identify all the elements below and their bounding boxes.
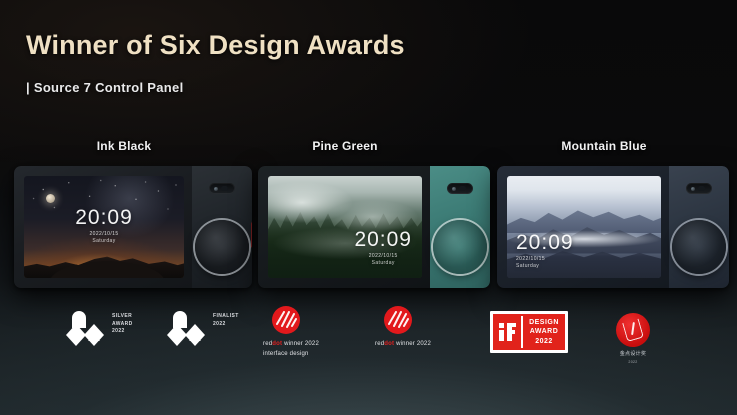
clock-widget: 20:09 2022/10/15 Saturday	[516, 232, 574, 269]
award-line-3: 2022	[112, 328, 133, 336]
camera-sensor-icon	[447, 183, 473, 194]
golden-pin-caption: 金点设计奖 2022	[607, 351, 659, 365]
idea-award-icon	[163, 305, 209, 351]
clock-time: 20:09	[75, 207, 133, 228]
if-logo-icon	[495, 316, 523, 348]
golden-pin-name: 金点设计奖	[620, 351, 647, 357]
device-body: 20:09 2022/10/15 Saturday	[497, 166, 669, 288]
device-control-panel	[669, 166, 729, 288]
device-pine-green[interactable]: 20:09 2022/10/15 Saturday	[258, 166, 490, 288]
clock-date: 2022/10/15	[516, 257, 574, 262]
clock-widget: 20:09 2022/10/15 Saturday	[354, 229, 412, 266]
clock-date: 2022/10/15	[354, 254, 412, 259]
if-line-3: 2022	[535, 337, 553, 346]
if-award-text: DESIGN AWARD 2022	[525, 316, 563, 348]
idea-award-icon	[62, 305, 108, 351]
color-label-pine-green: Pine Green	[312, 139, 377, 153]
idea-award-text: SILVER AWARD 2022	[112, 313, 133, 336]
device-control-panel	[192, 166, 252, 288]
rotary-knob[interactable]	[672, 220, 726, 274]
reddot-post: winner 2022	[394, 341, 431, 347]
camera-sensor-icon	[209, 183, 235, 194]
reddot-subtitle: interface design	[263, 350, 309, 360]
red-dot-caption: reddot winner 2022 interface design	[263, 340, 309, 359]
if-design-award-badge: DESIGN AWARD 2022	[490, 311, 568, 353]
award-idea-finalist: FINALIST 2022	[163, 305, 239, 351]
clock-weekday: Saturday	[75, 239, 133, 244]
device-screen[interactable]: 20:09 2022/10/15 Saturday	[268, 176, 422, 278]
idea-award-text: FINALIST 2022	[213, 313, 239, 328]
device-ink-black[interactable]: 20:09 2022/10/15 Saturday	[14, 166, 252, 288]
golden-pin-icon	[616, 313, 650, 347]
mountain-ridge-silhouette	[24, 247, 184, 278]
device-screen[interactable]: 20:09 2022/10/15 Saturday	[507, 176, 661, 278]
clock-time: 20:09	[516, 232, 574, 253]
color-label-ink-black: Ink Black	[97, 139, 152, 153]
award-if-design: DESIGN AWARD 2022	[490, 311, 568, 353]
award-line-2: 2022	[213, 321, 239, 329]
award-golden-pin: 金点设计奖 2022	[607, 313, 659, 365]
reddot-pre: red	[263, 341, 272, 347]
clock-time: 20:09	[354, 229, 412, 250]
award-line-1: SILVER	[112, 313, 133, 321]
side-accent-strip	[251, 222, 252, 248]
award-reddot-interface-design: reddot winner 2022 interface design	[263, 305, 309, 359]
reddot-pre: red	[375, 341, 384, 347]
color-label-mountain-blue: Mountain Blue	[561, 139, 646, 153]
rotary-knob[interactable]	[433, 220, 487, 274]
color-variant-labels: Ink Black Pine Green Mountain Blue	[0, 139, 737, 157]
device-body: 20:09 2022/10/15 Saturday	[14, 166, 192, 288]
device-body: 20:09 2022/10/15 Saturday	[258, 166, 430, 288]
award-idea-silver: SILVER AWARD 2022	[62, 305, 133, 351]
presentation-slide: Winner of Six Design Awards | Source 7 C…	[0, 0, 737, 415]
red-dot-icon	[271, 305, 301, 335]
clock-weekday: Saturday	[354, 261, 412, 266]
reddot-post: winner 2022	[282, 341, 319, 347]
if-line-2: AWARD	[530, 327, 559, 336]
device-control-panel	[430, 166, 490, 288]
reddot-highlight: dot	[272, 341, 282, 347]
reddot-highlight: dot	[384, 341, 394, 347]
device-showcase-row: 20:09 2022/10/15 Saturday	[0, 166, 737, 296]
device-mountain-blue[interactable]: 20:09 2022/10/15 Saturday	[497, 166, 729, 288]
page-title: Winner of Six Design Awards	[26, 30, 405, 61]
camera-sensor-icon	[686, 183, 712, 194]
clock-weekday: Saturday	[516, 264, 574, 269]
red-dot-icon	[383, 305, 413, 335]
device-screen[interactable]: 20:09 2022/10/15 Saturday	[24, 176, 184, 278]
golden-pin-year: 2022	[607, 360, 659, 365]
award-badges-row: SILVER AWARD 2022 FINALIST 2022	[0, 305, 737, 383]
award-line-1: FINALIST	[213, 313, 239, 321]
award-reddot-product-design: reddot winner 2022	[375, 305, 421, 350]
clock-date: 2022/10/15	[75, 232, 133, 237]
if-line-1: DESIGN	[529, 318, 559, 327]
award-line-2: AWARD	[112, 321, 133, 329]
rotary-knob[interactable]	[195, 220, 249, 274]
page-subtitle: | Source 7 Control Panel	[26, 80, 183, 95]
clock-widget: 20:09 2022/10/15 Saturday	[75, 207, 133, 244]
red-dot-caption: reddot winner 2022	[375, 340, 421, 350]
